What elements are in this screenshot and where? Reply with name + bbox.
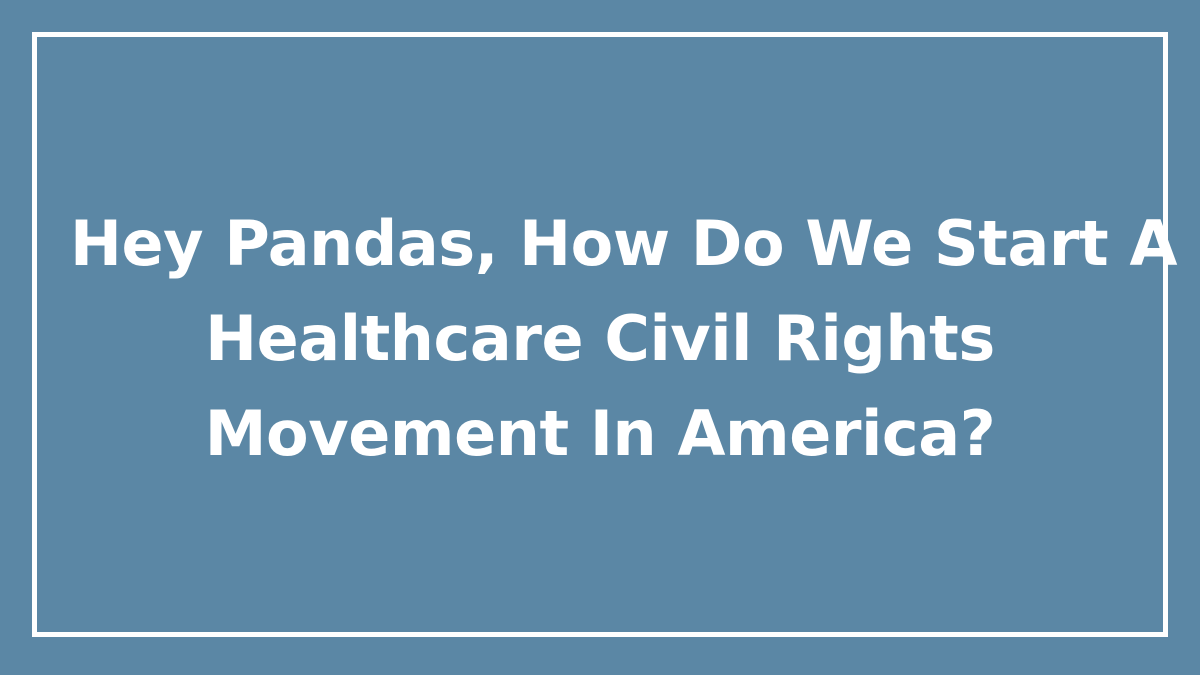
title-line-3: Movement In America? — [70, 386, 1130, 481]
title-card: Hey Pandas, How Do We Start A Healthcare… — [0, 0, 1200, 675]
title-line-1: Hey Pandas, How Do We Start A — [70, 196, 1130, 291]
page-title: Hey Pandas, How Do We Start A Healthcare… — [0, 0, 1200, 675]
title-line-2: Healthcare Civil Rights — [70, 291, 1130, 386]
